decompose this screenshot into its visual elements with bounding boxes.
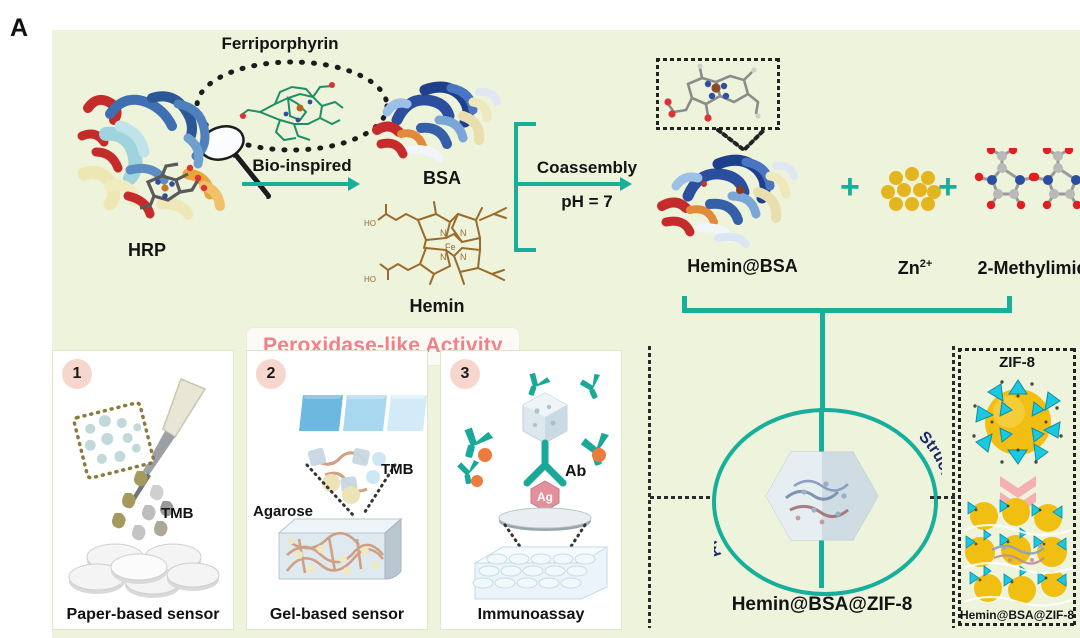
hemin-structure: HO HO N N N N Fe [360,190,520,300]
svg-text:Fe: Fe [445,242,456,252]
panel-label-a: A [10,14,27,43]
application-card-1[interactable]: 1 [52,350,234,630]
bio-inspired-arrow [242,182,350,186]
hrp-structure [70,78,255,238]
card-title-3: Immunoassay [441,606,621,624]
agarose-label: Agarose [253,503,313,520]
card-title-2: Gel-based sensor [247,606,427,624]
divider-left-dotted [648,346,651,628]
hub-structure-word: Structure [822,408,942,598]
plus-sign-1: + [840,170,860,204]
bsa-structure [367,68,527,173]
zinc-charge: 2+ [920,258,933,270]
svg-text:N: N [460,252,467,262]
zif8-label: ZIF-8 [958,354,1076,371]
plus-sign-2: + [938,170,958,204]
hemin-ball-stick [658,58,778,130]
coassembly-bracket-bottom [514,248,536,252]
svg-text:HO: HO [364,219,376,228]
ph-label: pH = 7 [522,192,652,212]
ab-label: Ab [565,463,586,481]
methylimidazole-label: 2-Methylimidazole [950,258,1080,279]
bio-inspired-arrowhead [348,177,360,191]
divider-right-dotted [952,346,955,628]
coassembly-label: Coassembly [522,158,652,178]
svg-text:Application: Application [714,469,725,562]
connector-left-dots [650,496,712,499]
hrp-label: HRP [92,240,202,261]
hub-bracket-left-tick [682,296,687,312]
hub-bracket-horizontal [682,308,1012,313]
coassembly-arrowhead [620,177,632,191]
svg-text:Ag: Ag [537,490,553,504]
structure-bottom-label: Hemin@BSA@ZIF-8 [956,608,1078,622]
hub-application-word: Application [714,408,834,598]
application-word-text: Application [714,469,725,562]
application-card-3[interactable]: 3 [440,350,622,630]
ferriporphyrin-label: Ferriporphyrin [190,34,370,54]
zinc-symbol: Zn [898,258,920,278]
hub-caption: Hemin@BSA@ZIF-8 [672,594,972,616]
application-card-2[interactable]: 2 [246,350,428,630]
hemin-bsa-label: Hemin@BSA [660,256,825,277]
svg-text:N: N [440,252,447,262]
svg-text:HO: HO [364,275,376,284]
svg-text:N: N [460,228,467,238]
structure-word-text: Structure [915,428,942,501]
hemin-bsa-structure [652,142,827,254]
hub-bracket-right-tick [1007,296,1012,312]
paper-sensor-illustration [53,375,233,600]
bsa-label: BSA [392,168,492,189]
clipped-top-text [0,0,1080,4]
gel-sensor-illustration [247,373,427,603]
coassembly-arrow [518,182,622,186]
tmb-label-card2: TMB [381,461,414,478]
hemin-bsa-zif8-lattice [962,496,1074,608]
tmb-label-card1: TMB [161,505,194,522]
coassembly-bracket-vertical [514,122,518,252]
card-title-1: Paper-based sensor [53,606,233,624]
methylimidazole-structure [972,148,1080,220]
bio-inspired-label: Bio-inspired [237,156,367,176]
zif8-particle [962,374,1074,470]
hub-bracket-stem [820,308,825,408]
hemin-label: Hemin [382,296,492,317]
zinc-label: Zn2+ [870,258,960,279]
immunoassay-illustration: Ag [441,371,621,606]
connector-right-dots [930,496,956,499]
svg-text:Structure: Structure [915,428,942,501]
coassembly-bracket-top [514,122,536,126]
figure-canvas: Ferriporphyrin [52,30,1080,638]
svg-text:N: N [440,228,447,238]
